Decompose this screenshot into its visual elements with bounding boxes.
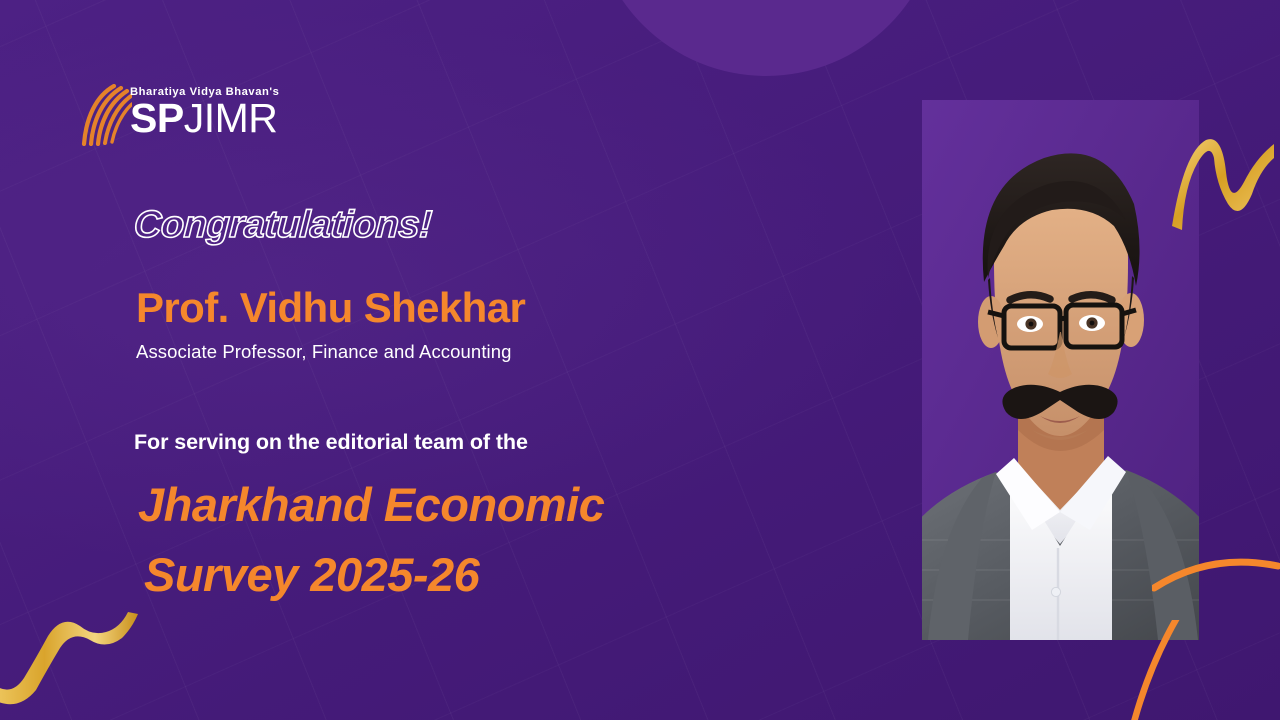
award-title: Jharkhand Economic Survey 2025-26 bbox=[138, 470, 604, 610]
congratulations-poster: Bharatiya Vidya Bhavan's SPJIMR Congratu… bbox=[0, 0, 1280, 720]
logo-wordmark: Bharatiya Vidya Bhavan's SPJIMR bbox=[130, 86, 279, 139]
portrait-illustration bbox=[922, 100, 1199, 640]
award-title-line-2: Survey 2025-26 bbox=[138, 540, 604, 610]
gold-ribbon-bottom-left bbox=[0, 608, 146, 720]
greeting-text: Congratulations! bbox=[133, 203, 433, 247]
purple-circle-top bbox=[592, 0, 940, 76]
logo-primary: SP bbox=[130, 95, 184, 141]
person-role: Associate Professor, Finance and Account… bbox=[136, 340, 512, 364]
logo-secondary: JIMR bbox=[184, 95, 278, 141]
reason-text: For serving on the editorial team of the bbox=[134, 428, 528, 456]
person-name: Prof. Vidhu Shekhar bbox=[136, 284, 525, 332]
award-title-line-1: Jharkhand Economic bbox=[138, 470, 604, 540]
swoosh-icon bbox=[80, 84, 132, 151]
logo-main-text: SPJIMR bbox=[130, 97, 279, 139]
portrait-photo bbox=[922, 100, 1199, 640]
spjimr-logo[interactable]: Bharatiya Vidya Bhavan's SPJIMR bbox=[80, 84, 290, 156]
